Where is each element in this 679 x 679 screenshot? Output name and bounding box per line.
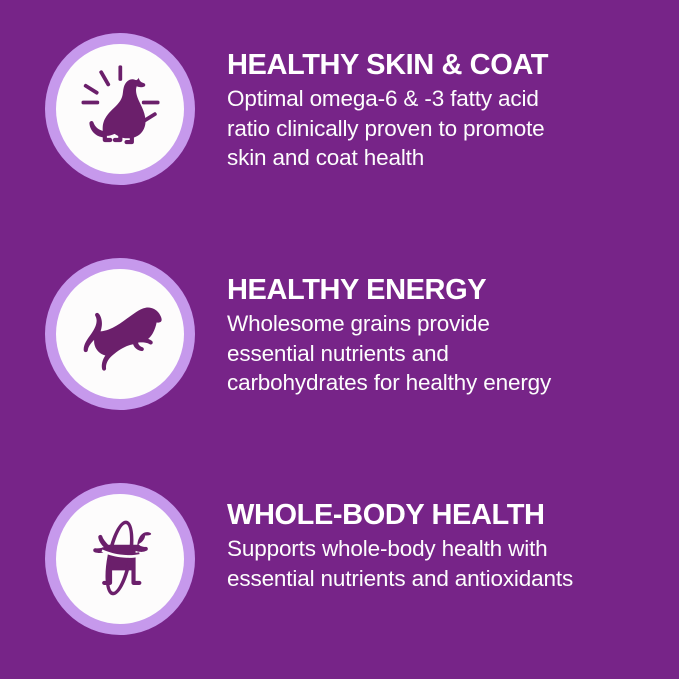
sitting-dog-shine-icon — [68, 57, 172, 161]
benefit-text-healthy-skin-and-coat: HEALTHY SKIN & COAT Optimal omega-6 & -3… — [227, 33, 679, 173]
benefit-heading: HEALTHY ENERGY — [227, 275, 663, 305]
icon-badge-healthy-energy — [45, 258, 195, 410]
standing-dog-orbit-icon — [68, 507, 172, 611]
benefit-heading: HEALTHY SKIN & COAT — [227, 50, 663, 80]
pet-food-benefits-infographic: HEALTHY SKIN & COAT Optimal omega-6 & -3… — [0, 0, 679, 679]
benefit-text-healthy-energy: HEALTHY ENERGY Wholesome grains provide … — [227, 258, 679, 398]
benefit-body: Optimal omega-6 & -3 fatty acid ratio cl… — [227, 84, 663, 172]
benefit-heading: WHOLE-BODY HEALTH — [227, 500, 663, 530]
benefit-body-line: essential nutrients and — [227, 339, 663, 368]
benefit-body: Supports whole-body health with essentia… — [227, 534, 663, 593]
benefit-body-line: Supports whole-body health with — [227, 534, 663, 563]
benefit-body-line: skin and coat health — [227, 143, 663, 172]
benefit-row-whole-body-health: WHOLE-BODY HEALTH Supports whole-body he… — [0, 483, 679, 635]
benefit-body-line: Wholesome grains provide — [227, 309, 663, 338]
icon-badge-healthy-skin-and-coat — [45, 33, 195, 185]
benefit-text-whole-body-health: WHOLE-BODY HEALTH Supports whole-body he… — [227, 483, 679, 593]
benefit-body-line: carbohydrates for healthy energy — [227, 368, 663, 397]
benefit-row-healthy-skin-and-coat: HEALTHY SKIN & COAT Optimal omega-6 & -3… — [0, 33, 679, 185]
icon-badge-whole-body-health — [45, 483, 195, 635]
leaping-dog-icon — [68, 282, 172, 386]
benefit-row-healthy-energy: HEALTHY ENERGY Wholesome grains provide … — [0, 258, 679, 410]
benefit-body: Wholesome grains provide essential nutri… — [227, 309, 663, 397]
benefit-body-line: essential nutrients and antioxidants — [227, 564, 663, 593]
benefit-body-line: Optimal omega-6 & -3 fatty acid — [227, 84, 663, 113]
benefit-body-line: ratio clinically proven to promote — [227, 114, 663, 143]
